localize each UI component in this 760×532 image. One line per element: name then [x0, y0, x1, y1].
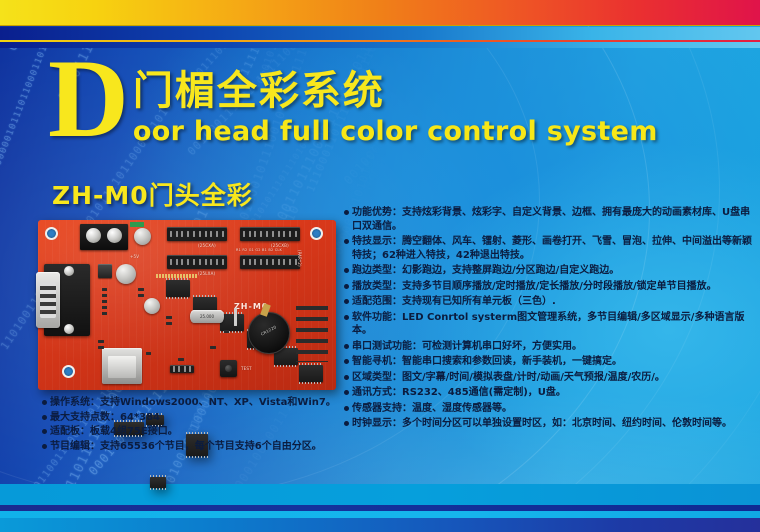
- electrolytic-capacitor-1: [116, 264, 136, 284]
- spec-item-text: 智能寻机：智能串口搜索和参数回读，新手装机，一键搞定。: [352, 355, 756, 369]
- spec-list-item: 串口测试功能：可检测计算机串口好坏，方便实用。: [344, 340, 756, 354]
- bullet-icon: [344, 359, 349, 364]
- db9-screw-bottom: [64, 324, 74, 334]
- headline-block: D 门楣全彩系统 oor head full color control sys…: [48, 62, 658, 147]
- spec-list-item: 适配范围：支持现有已知所有单元板（三色）.: [344, 295, 756, 309]
- smd-resistor-9: [146, 352, 151, 355]
- bullet-icon: [42, 429, 47, 434]
- antenna-pin: [234, 308, 237, 326]
- idc-header-4: [240, 255, 300, 269]
- bullet-icon: [344, 406, 349, 411]
- spec-list-item: 节目编辑：支持65536个节目，每个节目支持6个自由分区。: [42, 440, 342, 454]
- silk-conn-label-3: (25LXA): [198, 271, 215, 276]
- spec-list-left: 操作系统：支持Windows2000、NT、XP、Vista和Win7。最大支持…: [42, 396, 342, 454]
- spec-item-text: 特技显示：腾空翻体、风车、镭射、菱形、画卷打开、飞雪、冒泡、拉伸、中间溢出等新颖…: [352, 235, 756, 262]
- eeprom-chip: [150, 477, 166, 488]
- silk-conn-label-1: (25CXA): [198, 243, 216, 248]
- fuse: [130, 222, 144, 227]
- top-gradient-bar: [0, 0, 760, 26]
- silk-power-label: +5V: [130, 254, 139, 259]
- pcb-board-image: +5V (25CXA) (25CXB) (25LXA) R1 R2 G1 G2 …: [38, 220, 336, 390]
- smd-resistor-10: [224, 330, 229, 333]
- spec-item-text: 时钟显示：多个时间分区可以单独设置时区，如：北京时间、纽约时间、伦敦时间等。: [352, 417, 756, 431]
- driver-ic-1: [166, 280, 190, 297]
- spec-item-text: 适配范围：支持现有已知所有单元板（三色）.: [352, 295, 756, 309]
- mounting-hole-tr: [310, 227, 323, 240]
- spec-item-text: 软件功能：LED Conrtol systerm图文管理系统，多节目编辑/多区域…: [352, 311, 756, 338]
- poster-canvas: 0001001001110111101101101110001001101110…: [0, 0, 760, 532]
- mounting-hole-tl: [45, 227, 58, 240]
- terminal-screw-1: [86, 228, 101, 243]
- spec-list-item: 适配板：板载4组75E接口。: [42, 425, 342, 439]
- programming-header: [170, 365, 194, 373]
- spec-list-item: 传感器支持：温度、湿度传感器等。: [344, 402, 756, 416]
- spec-list-item: 智能寻机：智能串口搜索和参数回读，新手装机，一键搞定。: [344, 355, 756, 369]
- bullet-icon: [344, 210, 349, 215]
- silk-conn-label-4: (PAR*2): [297, 250, 302, 267]
- bullet-icon: [344, 268, 349, 273]
- headline-chinese: 门楣全彩系统: [133, 70, 658, 112]
- inductor: [98, 264, 112, 278]
- db9-pin-row: [40, 282, 56, 318]
- spec-list-item: 时钟显示：多个时间分区可以单独设置时区，如：北京时间、纽约时间、伦敦时间等。: [344, 417, 756, 431]
- db9-screw-top: [64, 266, 74, 276]
- idc-header-2: [240, 227, 300, 241]
- spec-list-item: 最大支持点数：64*384: [42, 411, 342, 425]
- spec-list-right: 功能优势：支持炫彩背景、炫彩字、自定义背景、边框、拥有最庞大的动画素材库、U盘串…: [344, 206, 756, 433]
- spec-item-text: 播放类型：支持多节目顺序播放/定时播放/定长播放/分时段播放/锁定单节目播放。: [352, 280, 756, 294]
- bottom-bar-4: [0, 518, 760, 532]
- spec-item-text: 传感器支持：温度、湿度传感器等。: [352, 402, 756, 416]
- silk-test-label: TEST: [241, 366, 252, 371]
- spec-item-text: 串口测试功能：可检测计算机串口好坏，方便实用。: [352, 340, 756, 354]
- smd-resistor-4: [166, 322, 172, 325]
- product-model-title: ZH-M0门头全彩: [52, 176, 253, 212]
- usb-inner: [108, 356, 136, 378]
- spec-item-text: 通讯方式：RS232、485通信(需定制)，U盘。: [352, 386, 756, 400]
- resistor-array: [102, 288, 107, 316]
- bullet-icon: [344, 239, 349, 244]
- edge-connector-pads: [156, 274, 197, 278]
- spec-list-item: 跑边类型：幻影跑边，支持整屏跑边/分区跑边/自定义跑边。: [344, 264, 756, 278]
- bullet-icon: [344, 315, 349, 320]
- spec-item-text: 区域类型：图文/字幕/时间/模拟表盘/计时/动画/天气预报/温度/农历/。: [352, 371, 756, 385]
- spec-item-text: 节目编辑：支持65536个节目，每个节目支持6个自由分区。: [50, 440, 342, 454]
- smd-resistor-7: [98, 346, 104, 349]
- spec-item-text: 功能优势：支持炫彩背景、炫彩字、自定义背景、边框、拥有最庞大的动画素材库、U盘串…: [352, 206, 756, 233]
- spec-item-text: 最大支持点数：64*384: [50, 411, 342, 425]
- test-button[interactable]: [220, 360, 237, 377]
- smd-resistor-1: [138, 288, 144, 291]
- silk-crystal-freq: 25.000: [200, 314, 214, 319]
- spec-list-item: 特技显示：腾空翻体、风车、镭射、菱形、画卷打开、飞雪、冒泡、拉伸、中间溢出等新颖…: [344, 235, 756, 262]
- bottom-bar-1: [0, 484, 760, 506]
- bullet-icon: [42, 415, 47, 420]
- crystal-oscillator: 25.000: [190, 310, 224, 323]
- spec-list-item: 播放类型：支持多节目顺序播放/定时播放/定长播放/分时段播放/锁定单节目播放。: [344, 280, 756, 294]
- bullet-icon: [344, 421, 349, 426]
- terminal-screw-2: [107, 228, 122, 243]
- smd-resistor-3: [166, 316, 172, 319]
- silk-conn-label-5: R1 R2 G1 G2 B1 B2 CLK: [236, 248, 282, 252]
- bullet-icon: [344, 390, 349, 395]
- spec-list-item: 区域类型：图文/字幕/时间/模拟表盘/计时/动画/天气预报/温度/农历/。: [344, 371, 756, 385]
- smd-resistor-5: [210, 346, 216, 349]
- smd-resistor-6: [98, 340, 104, 343]
- spec-item-text: 跑边类型：幻影跑边，支持整屏跑边/分区跑边/自定义跑边。: [352, 264, 756, 278]
- electrolytic-capacitor-2: [144, 298, 160, 314]
- bullet-icon: [42, 444, 47, 449]
- idc-header-1: [167, 227, 227, 241]
- filter-capacitor-1: [134, 228, 151, 245]
- bullet-icon: [344, 299, 349, 304]
- headline-drop-cap: D: [48, 56, 127, 143]
- bullet-icon: [344, 344, 349, 349]
- bullet-icon: [42, 400, 47, 405]
- spec-list-item: 操作系统：支持Windows2000、NT、XP、Vista和Win7。: [42, 396, 342, 410]
- spec-list-item: 功能优势：支持炫彩背景、炫彩字、自定义背景、边框、拥有最庞大的动画素材库、U盘串…: [344, 206, 756, 233]
- headline-english: oor head full color control system: [133, 116, 658, 147]
- smd-resistor-8: [178, 358, 184, 361]
- idc-header-3: [167, 255, 227, 269]
- spec-list-item: 软件功能：LED Conrtol systerm图文管理系统，多节目编辑/多区域…: [344, 311, 756, 338]
- spec-list-item: 通讯方式：RS232、485通信(需定制)，U盘。: [344, 386, 756, 400]
- spec-item-text: 操作系统：支持Windows2000、NT、XP、Vista和Win7。: [50, 396, 342, 410]
- side-pad-group: [296, 306, 328, 362]
- driver-ic-6: [299, 365, 323, 382]
- spec-item-text: 适配板：板载4组75E接口。: [50, 425, 342, 439]
- mounting-hole-bl: [62, 365, 75, 378]
- bullet-icon: [344, 284, 349, 289]
- smd-resistor-2: [138, 294, 144, 297]
- bullet-icon: [344, 375, 349, 380]
